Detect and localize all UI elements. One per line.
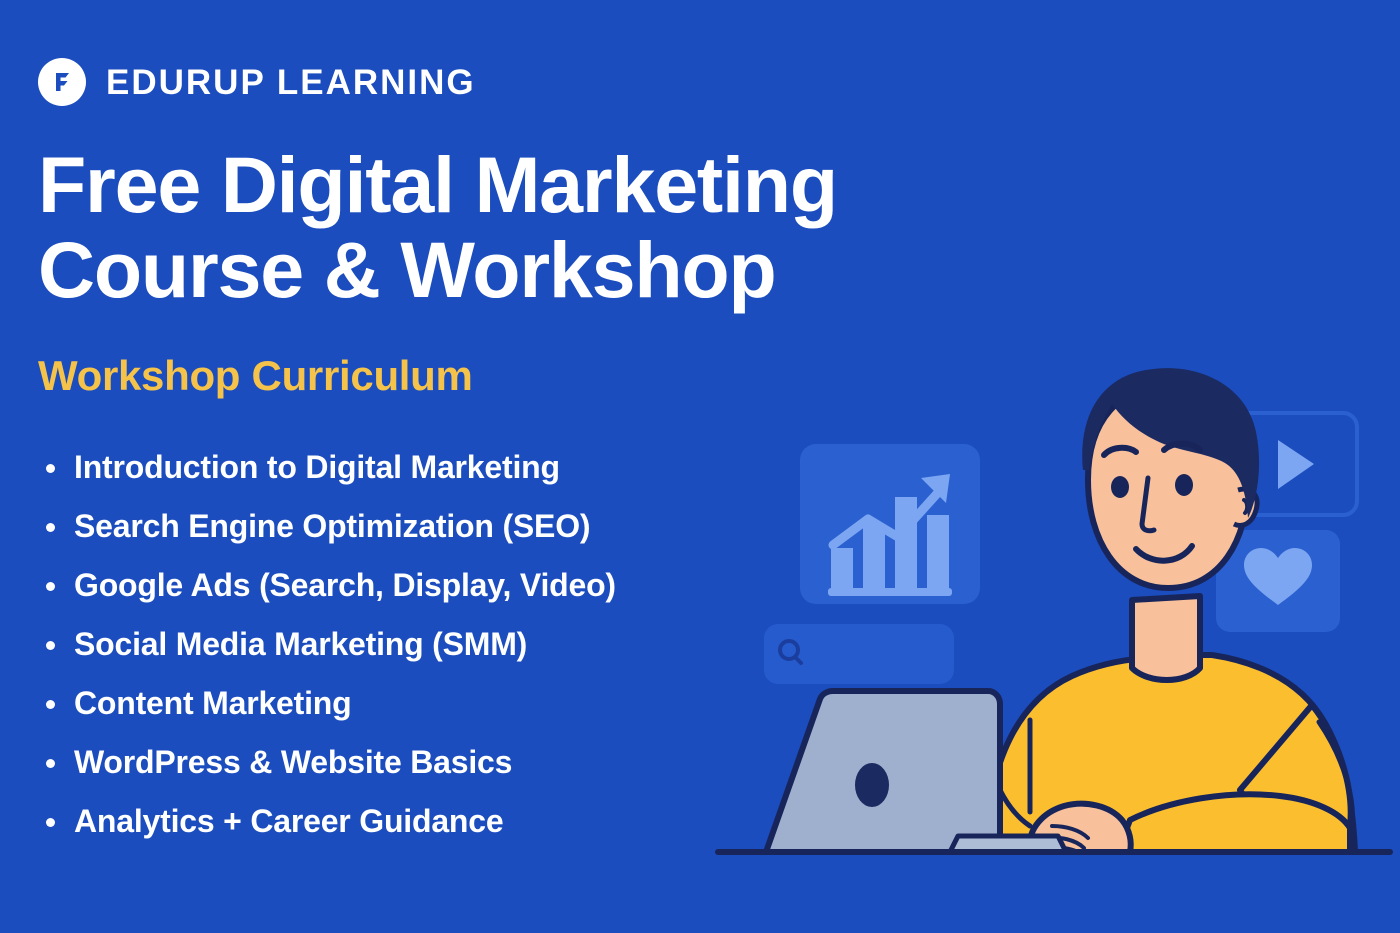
list-item: Google Ads (Search, Display, Video) [38,556,758,615]
play-triangle-icon [1278,440,1314,489]
bullet-dot-icon [46,523,55,532]
list-item-label: WordPress & Website Basics [74,744,512,780]
bullet-dot-icon [46,582,55,591]
search-bar-card [764,624,954,684]
list-item-label: Content Marketing [74,685,352,721]
page-title: Free Digital Marketing Course & Workshop [38,142,1028,313]
curriculum-list: Introduction to Digital Marketing Search… [38,438,758,851]
edurup-flag-logo-icon [38,58,86,106]
list-item-label: Introduction to Digital Marketing [74,449,560,485]
brand-lockup: EDURUP LEARNING [38,58,476,106]
list-item: Analytics + Career Guidance [38,792,758,851]
content-column: EDURUP LEARNING Free Digital Marketing C… [38,0,758,933]
bullet-dot-icon [46,464,55,473]
brand-name: EDURUP LEARNING [106,65,476,100]
list-item-label: Social Media Marketing (SMM) [74,626,527,662]
list-item: Introduction to Digital Marketing [38,438,758,497]
bullet-dot-icon [46,818,55,827]
section-subtitle: Workshop Curriculum [38,352,473,400]
headline-line-1: Free Digital Marketing [38,142,1028,227]
list-item: Search Engine Optimization (SEO) [38,497,758,556]
bullet-dot-icon [46,700,55,709]
list-item: Social Media Marketing (SMM) [38,615,758,674]
bullet-dot-icon [46,641,55,650]
list-item: WordPress & Website Basics [38,733,758,792]
growth-chart-card [800,444,980,604]
list-item-label: Search Engine Optimization (SEO) [74,508,590,544]
list-item-label: Google Ads (Search, Display, Video) [74,567,616,603]
list-item: Content Marketing [38,674,758,733]
list-item-label: Analytics + Career Guidance [74,803,503,839]
bullet-dot-icon [46,759,55,768]
headline-line-2: Course & Workshop [38,227,1028,312]
